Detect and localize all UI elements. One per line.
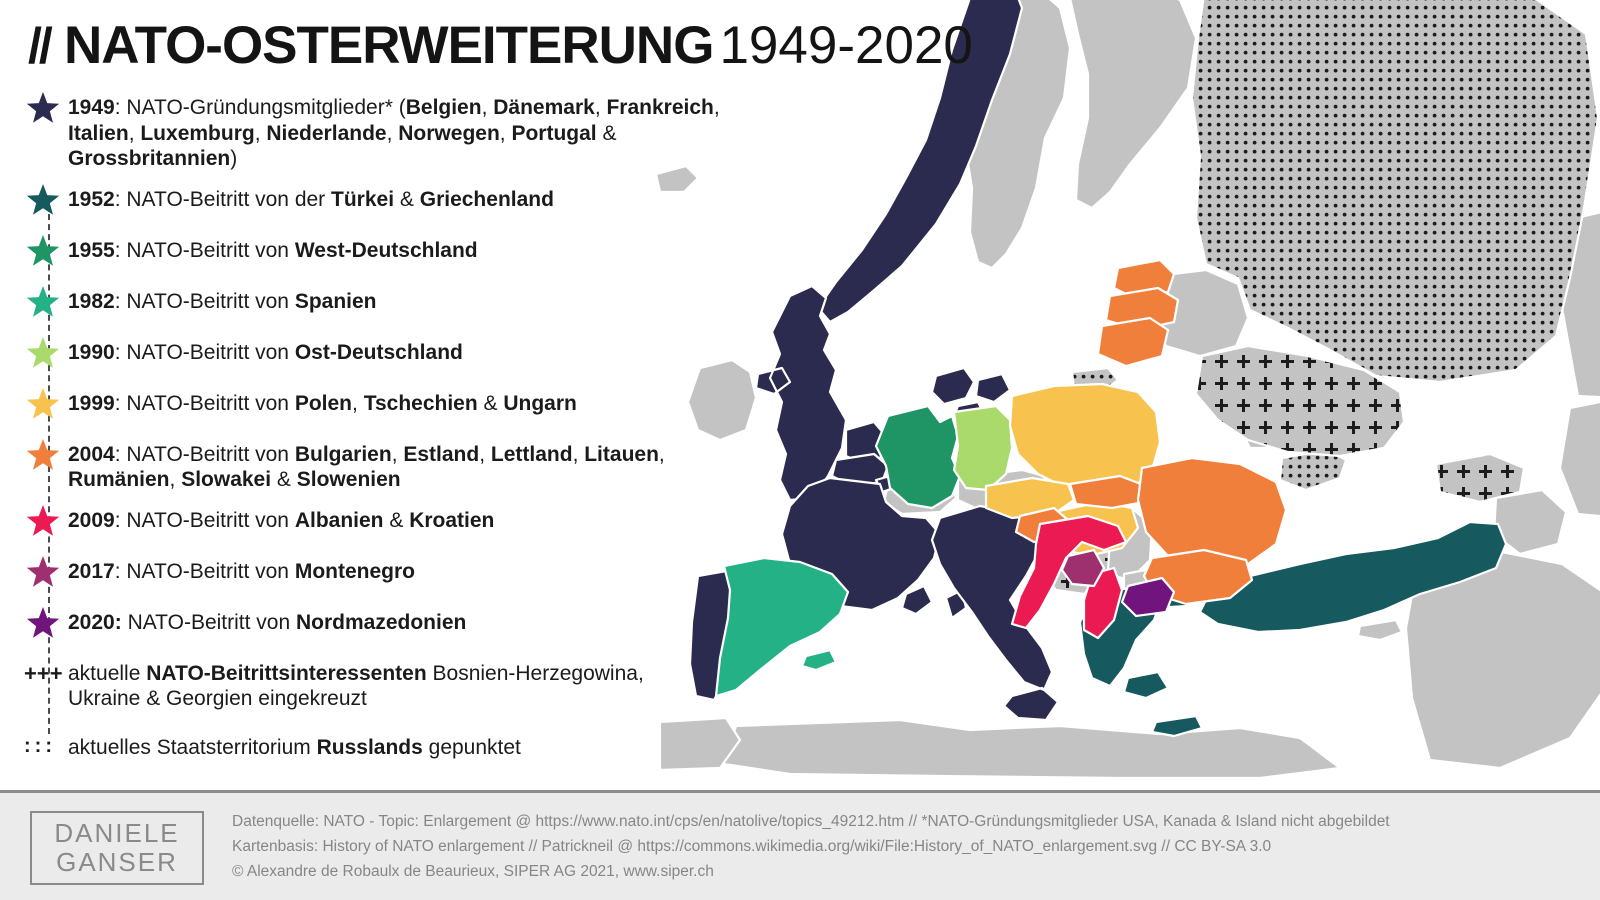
credit-line-copyright: © Alexandre de Robaulx de Beaurieux, SIP… bbox=[232, 859, 1390, 884]
legend-note-fragment: aktuelle bbox=[68, 662, 146, 685]
legend-row-2009: 2009: NATO-Beitritt von Albanien & Kroat… bbox=[24, 505, 764, 539]
daniele-ganser-logo: DANIELE GANSER bbox=[30, 811, 204, 885]
legend-note-emphasis: Russlands bbox=[317, 736, 423, 759]
legend-text-fragment: & bbox=[271, 468, 297, 491]
legend-row-1990: 1990: NATO-Beitritt von Ost-Deutschland bbox=[24, 337, 764, 371]
legend-country-name: Spanien bbox=[295, 290, 377, 313]
legend-country-name: Tschechien bbox=[364, 392, 478, 415]
legend-row-1952: 1952: NATO-Beitritt von der Türkei & Gri… bbox=[24, 184, 764, 218]
legend-country-name: Lettland bbox=[491, 443, 573, 466]
legend-country-name: Luxemburg bbox=[140, 122, 254, 145]
legend-star-cell bbox=[24, 92, 68, 126]
legend-star-cell bbox=[24, 439, 68, 473]
legend-star-cell bbox=[24, 607, 68, 641]
page-title: // NATO-OSTERWEITERUNG1949-2020 bbox=[28, 16, 973, 76]
legend-text-fragment: & bbox=[478, 392, 504, 415]
legend-country-name: Ungarn bbox=[503, 392, 577, 415]
legend-text-fragment: , bbox=[714, 96, 720, 119]
star-1982-icon bbox=[26, 286, 60, 320]
legend-country-name: Nordmazedonien bbox=[296, 611, 466, 634]
legend-star-cell bbox=[24, 556, 68, 590]
legend-row-1949: 1949: NATO-Gründungsmitglieder* (Belgien… bbox=[24, 92, 764, 172]
legend-country-name: Portugal bbox=[511, 122, 596, 145]
legend-country-name: Kroatien bbox=[409, 509, 494, 532]
legend-star-cell bbox=[24, 337, 68, 371]
legend-text-fragment: , bbox=[352, 392, 364, 415]
legend-row-text: 1952: NATO-Beitritt von der Türkei & Gri… bbox=[68, 184, 554, 213]
legend-year: 1999 bbox=[68, 392, 115, 415]
legend-country-name: Niederlande bbox=[266, 122, 386, 145]
legend-year: 2004 bbox=[68, 443, 115, 466]
legend-text-fragment: , bbox=[255, 122, 267, 145]
legend-star-cell bbox=[24, 505, 68, 539]
title-main: NATO-OSTERWEITERUNG bbox=[64, 16, 713, 75]
legend-country-name: Frankreich bbox=[606, 96, 713, 119]
legend-year: 1982 bbox=[68, 290, 115, 313]
legend-text-fragment: , bbox=[573, 443, 585, 466]
legend-country-name: Italien bbox=[68, 122, 129, 145]
legend-text-fragment: ) bbox=[230, 147, 237, 170]
legend-country-name: Norwegen bbox=[398, 122, 500, 145]
legend-text-fragment: NATO-Beitritt von bbox=[126, 341, 294, 364]
legend-note-plus: +++aktuelle NATO-Beitrittsinteressenten … bbox=[24, 658, 764, 712]
title-slashes: // bbox=[28, 18, 50, 74]
legend-row-2017: 2017: NATO-Beitritt von Montenegro bbox=[24, 556, 764, 590]
legend-note-dots: :::aktuelles Staatsterritorium Russlands… bbox=[24, 732, 764, 761]
legend-text-fragment: , bbox=[170, 468, 182, 491]
legend-row-text: 1982: NATO-Beitritt von Spanien bbox=[68, 286, 377, 315]
star-1952-icon bbox=[26, 184, 60, 218]
legend-row-1999: 1999: NATO-Beitritt von Polen, Tschechie… bbox=[24, 388, 764, 422]
legend-year: 2017 bbox=[68, 560, 115, 583]
legend-text-fragment: , bbox=[659, 443, 665, 466]
legend-country-name: Dänemark bbox=[493, 96, 595, 119]
legend-text-fragment: NATO-Beitritt von bbox=[126, 509, 294, 532]
legend-text-fragment: & bbox=[384, 509, 410, 532]
legend-text-fragment: NATO-Beitritt von bbox=[126, 290, 294, 313]
legend-row-2020: 2020: NATO-Beitritt von Nordmazedonien bbox=[24, 607, 764, 641]
star-1949-icon bbox=[26, 92, 60, 126]
legend-country-name: Belgien bbox=[406, 96, 482, 119]
legend-note-emphasis: NATO-Beitrittsinteressenten bbox=[146, 662, 426, 685]
legend-country-name: Grossbritannien bbox=[68, 147, 230, 170]
map-region-georgia bbox=[1436, 454, 1524, 502]
legend-row-1955: 1955: NATO-Beitritt von West-Deutschland bbox=[24, 235, 764, 269]
star-2017-icon bbox=[26, 556, 60, 590]
title-years: 1949-2020 bbox=[713, 16, 972, 75]
legend-year: 2020: bbox=[68, 611, 122, 634]
legend-star-cell bbox=[24, 235, 68, 269]
legend-country-name: Rumänien bbox=[68, 468, 170, 491]
map-region-lithuania bbox=[1098, 318, 1168, 366]
legend-row-text: 2020: NATO-Beitritt von Nordmazedonien bbox=[68, 607, 466, 636]
legend-text-fragment: & bbox=[394, 188, 420, 211]
logo-line-2: GANSER bbox=[56, 848, 178, 877]
legend-row-text: 1990: NATO-Beitritt von Ost-Deutschland bbox=[68, 337, 463, 366]
legend-text-fragment: & bbox=[597, 122, 617, 145]
legend-row-text: 2009: NATO-Beitritt von Albanien & Kroat… bbox=[68, 505, 494, 534]
legend-year: 1952 bbox=[68, 188, 115, 211]
credits-block: Datenquelle: NATO - Topic: Enlargement @… bbox=[232, 809, 1390, 884]
legend-row-text: 1949: NATO-Gründungsmitglieder* (Belgien… bbox=[68, 92, 764, 172]
credit-line-source: Datenquelle: NATO - Topic: Enlargement @… bbox=[232, 809, 1390, 834]
legend-text-fragment: , bbox=[387, 122, 399, 145]
star-1999-icon bbox=[26, 388, 60, 422]
europe-nato-enlargement-map bbox=[640, 0, 1600, 798]
legend-text-fragment: NATO-Beitritt von bbox=[126, 392, 294, 415]
legend-note-text: aktuelles Staatsterritorium Russlands ge… bbox=[68, 732, 521, 761]
legend-note-text: aktuelle NATO-Beitrittsinteressenten Bos… bbox=[68, 658, 708, 712]
legend-row-text: 1955: NATO-Beitritt von West-Deutschland bbox=[68, 235, 478, 264]
infographic-root: // NATO-OSTERWEITERUNG1949-2020 1949: NA… bbox=[0, 0, 1600, 900]
plus-marker-icon: +++ bbox=[24, 658, 68, 687]
legend-row-1982: 1982: NATO-Beitritt von Spanien bbox=[24, 286, 764, 320]
legend-text-fragment: , bbox=[500, 122, 512, 145]
legend-country-name: Polen bbox=[295, 392, 352, 415]
star-2020-icon bbox=[26, 607, 60, 641]
legend-star-cell bbox=[24, 286, 68, 320]
legend-country-name: Montenegro bbox=[295, 560, 415, 583]
dots-marker-icon: ::: bbox=[24, 732, 68, 758]
legend-row-text: 2004: NATO-Beitritt von Bulgarien, Estla… bbox=[68, 439, 764, 493]
legend-row-2004: 2004: NATO-Beitritt von Bulgarien, Estla… bbox=[24, 439, 764, 493]
legend-country-name: Litauen bbox=[584, 443, 659, 466]
legend-country-name: Türkei bbox=[331, 188, 394, 211]
legend-country-name: Slowenien bbox=[297, 468, 401, 491]
legend-text-fragment: NATO-Beitritt von bbox=[128, 611, 296, 634]
legend-country-name: Slowakei bbox=[181, 468, 271, 491]
legend-star-cell bbox=[24, 388, 68, 422]
legend-text-fragment: NATO-Beitritt von bbox=[126, 560, 294, 583]
legend-text-fragment: NATO-Beitritt von der bbox=[126, 188, 331, 211]
legend-country-name: Albanien bbox=[295, 509, 384, 532]
map-region-montenegro bbox=[1062, 550, 1104, 586]
star-2004-icon bbox=[26, 439, 60, 473]
legend-year: 1990 bbox=[68, 341, 115, 364]
map-region-east-germany bbox=[954, 406, 1012, 490]
legend-note-fragment: gepunktet bbox=[423, 736, 521, 759]
legend-text-fragment: NATO-Beitritt von bbox=[126, 443, 294, 466]
legend-country-name: Ost-Deutschland bbox=[295, 341, 463, 364]
legend-text-fragment: , bbox=[595, 96, 607, 119]
legend-star-cell bbox=[24, 184, 68, 218]
legend-text-fragment: , bbox=[479, 443, 491, 466]
legend-country-name: West-Deutschland bbox=[295, 239, 478, 262]
legend-year: 1955 bbox=[68, 239, 115, 262]
star-2009-icon bbox=[26, 505, 60, 539]
legend-text-fragment: , bbox=[129, 122, 141, 145]
legend-text-fragment: , bbox=[392, 443, 404, 466]
legend-row-text: 2017: NATO-Beitritt von Montenegro bbox=[68, 556, 415, 585]
legend-text-fragment: , bbox=[482, 96, 494, 119]
star-1955-icon bbox=[26, 235, 60, 269]
credit-line-mapbasis: Kartenbasis: History of NATO enlargement… bbox=[232, 834, 1390, 859]
logo-line-1: DANIELE bbox=[54, 819, 179, 848]
legend-country-name: Griechenland bbox=[420, 188, 554, 211]
legend-note-fragment: aktuelles Staatsterritorium bbox=[68, 736, 317, 759]
legend-country-name: Bulgarien bbox=[295, 443, 392, 466]
legend-text-fragment: NATO-Gründungsmitglieder* ( bbox=[126, 96, 405, 119]
legend-text-fragment: NATO-Beitritt von bbox=[126, 239, 294, 262]
footer-bar: DANIELE GANSER Datenquelle: NATO - Topic… bbox=[0, 790, 1600, 900]
map-region-russia bbox=[1192, 0, 1598, 382]
legend-row-text: 1999: NATO-Beitritt von Polen, Tschechie… bbox=[68, 388, 577, 417]
legend-year: 1949 bbox=[68, 96, 115, 119]
star-1990-icon bbox=[26, 337, 60, 371]
legend-year: 2009 bbox=[68, 509, 115, 532]
legend: 1949: NATO-Gründungsmitglieder* (Belgien… bbox=[24, 92, 764, 760]
legend-country-name: Estland bbox=[403, 443, 479, 466]
